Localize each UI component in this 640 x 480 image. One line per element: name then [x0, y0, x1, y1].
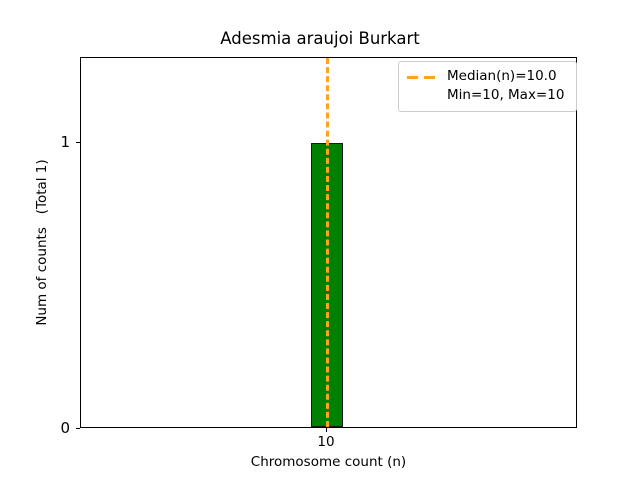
dashed-line-icon	[406, 71, 440, 83]
legend: Median(n)=10.0 Min=10, Max=10	[398, 61, 577, 112]
legend-entry-median: Median(n)=10.0	[406, 67, 569, 86]
chart-title: Adesmia araujoi Burkart	[0, 29, 640, 49]
x-axis-label: Chromosome count (n)	[80, 455, 577, 470]
legend-label-minmax: Min=10, Max=10	[447, 88, 564, 103]
xtick-mark-10	[326, 428, 327, 432]
plot-area	[80, 57, 577, 428]
y-axis-label: Num of counts (Total 1)	[35, 57, 50, 428]
ytick-mark-0	[76, 428, 80, 429]
median-line	[326, 58, 329, 427]
chart-figure: Adesmia araujoi Burkart 0 1 10 Chromosom…	[0, 0, 640, 480]
xtick-label-10: 10	[296, 435, 356, 449]
legend-label-median: Median(n)=10.0	[447, 69, 557, 84]
ytick-mark-1	[76, 142, 80, 143]
legend-entry-minmax: Min=10, Max=10	[406, 86, 569, 105]
